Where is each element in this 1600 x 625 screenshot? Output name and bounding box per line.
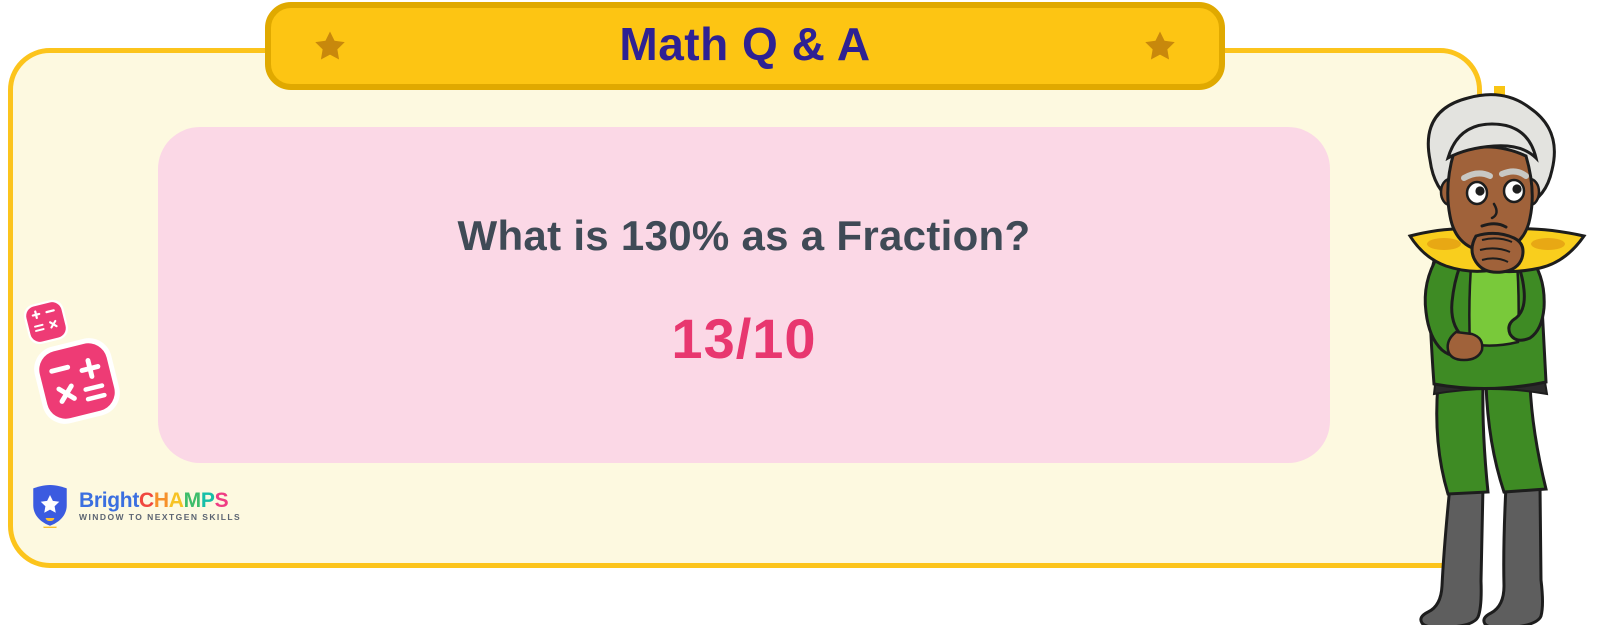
shield-star-icon bbox=[30, 484, 70, 528]
character-hand-on-chin bbox=[1472, 233, 1523, 272]
logo-letter-s: S bbox=[215, 489, 229, 512]
logo-letter-a: A bbox=[169, 489, 184, 512]
star-icon bbox=[1143, 29, 1177, 63]
logo-letter-h: H bbox=[154, 489, 169, 512]
character-boots bbox=[1421, 486, 1543, 625]
brightchamps-logo: BrightCHAMPS WINDOW TO NEXTGEN SKILLS bbox=[30, 484, 241, 528]
thinking-grandmother-illustration bbox=[1398, 86, 1600, 625]
slide-canvas: Math Q & A What is 130% as a Fraction? 1… bbox=[0, 0, 1600, 625]
logo-word-bright: Bright bbox=[79, 489, 139, 512]
logo-letter-m: M bbox=[184, 489, 201, 512]
header-banner: Math Q & A bbox=[265, 2, 1225, 90]
page-title: Math Q & A bbox=[347, 21, 1143, 71]
logo-letter-c: C bbox=[139, 489, 154, 512]
question-answer-panel: What is 130% as a Fraction? 13/10 bbox=[158, 127, 1330, 463]
answer-text: 13/10 bbox=[158, 311, 1330, 367]
logo-text-block: BrightCHAMPS WINDOW TO NEXTGEN SKILLS bbox=[79, 490, 241, 522]
logo-letter-p: P bbox=[201, 489, 215, 512]
logo-wordmark: BrightCHAMPS bbox=[79, 490, 241, 511]
star-icon bbox=[313, 29, 347, 63]
question-text: What is 130% as a Fraction? bbox=[158, 213, 1330, 259]
logo-tagline: WINDOW TO NEXTGEN SKILLS bbox=[79, 513, 241, 522]
